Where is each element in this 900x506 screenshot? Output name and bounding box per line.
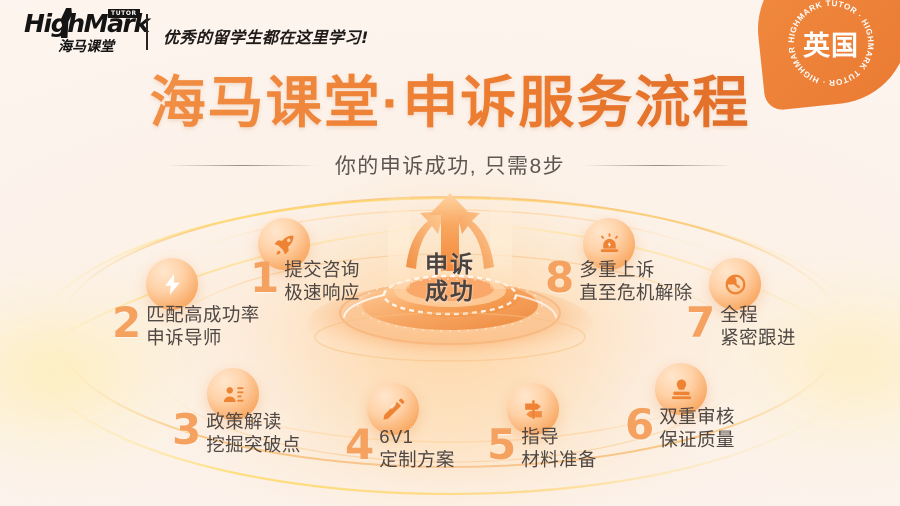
center-label-line1: 申诉 [350, 251, 550, 278]
step-7-number: 7 [686, 303, 715, 343]
step-3-line2: 挖掘突破点 [206, 433, 301, 456]
step-8-body: 8 多重上诉 直至危机解除 [545, 258, 693, 304]
step-5-number: 5 [487, 425, 516, 465]
step-6-body: 6 双重审核 保证质量 [625, 405, 735, 451]
step-4-line1: 6V1 [379, 425, 455, 448]
header-divider [146, 14, 148, 50]
step-2-body: 2 匹配高成功率 申诉导师 [112, 303, 260, 349]
poster-canvas: HighMark TUTOR 海马课堂 优秀的留学生都在这里学习! HIGHMA… [0, 0, 900, 506]
subtitle-rule-left [167, 165, 317, 166]
step-8-line2: 直至危机解除 [579, 281, 692, 304]
page-title: 海马课堂·申诉服务流程 [0, 72, 900, 134]
step-5-line1: 指导 [521, 425, 597, 448]
step-6-line1: 双重审核 [659, 405, 735, 428]
step-6-line2: 保证质量 [659, 428, 735, 451]
step-8-line1: 多重上诉 [579, 258, 692, 281]
step-3-number: 3 [172, 410, 201, 450]
step-4-body: 4 6V1 定制方案 [345, 425, 455, 471]
step-3-line1: 政策解读 [206, 410, 301, 433]
step-2-number: 2 [112, 303, 141, 343]
step-5-body: 5 指导 材料准备 [487, 425, 597, 471]
logo-chinese-name: 海马课堂 [58, 36, 114, 56]
brand-logo[interactable]: HighMark TUTOR 海马课堂 [24, 11, 142, 55]
subtitle-row: 你的申诉成功, 只需8步 [0, 150, 900, 180]
logo-tutor-badge: TUTOR [108, 9, 140, 18]
step-2-line2: 申诉导师 [146, 326, 259, 349]
step-2-line1: 匹配高成功率 [146, 303, 259, 326]
step-1-number: 1 [250, 258, 279, 298]
step-1-line1: 提交咨询 [284, 258, 360, 281]
center-label: 申诉 成功 [350, 251, 550, 305]
step-7-line1: 全程 [720, 303, 796, 326]
step-7-body: 7 全程 紧密跟进 [686, 303, 796, 349]
page-subtitle: 你的申诉成功, 只需8步 [335, 150, 565, 180]
step-1-body: 1 提交咨询 极速响应 [250, 258, 360, 304]
step-6-number: 6 [625, 405, 654, 445]
step-1-line2: 极速响应 [284, 281, 360, 304]
step-5-line2: 材料准备 [521, 448, 597, 471]
step-3-body: 3 政策解读 挖掘突破点 [172, 410, 301, 456]
step-4-number: 4 [345, 425, 374, 465]
logo-wordmark: HighMark TUTOR [24, 11, 142, 36]
step-4-line2: 定制方案 [379, 448, 455, 471]
center-node: 申诉 成功 [350, 185, 550, 345]
center-label-line2: 成功 [350, 278, 550, 305]
header-tagline: 优秀的留学生都在这里学习! [163, 24, 369, 48]
subtitle-rule-right [583, 165, 733, 166]
step-7-line2: 紧密跟进 [720, 326, 796, 349]
